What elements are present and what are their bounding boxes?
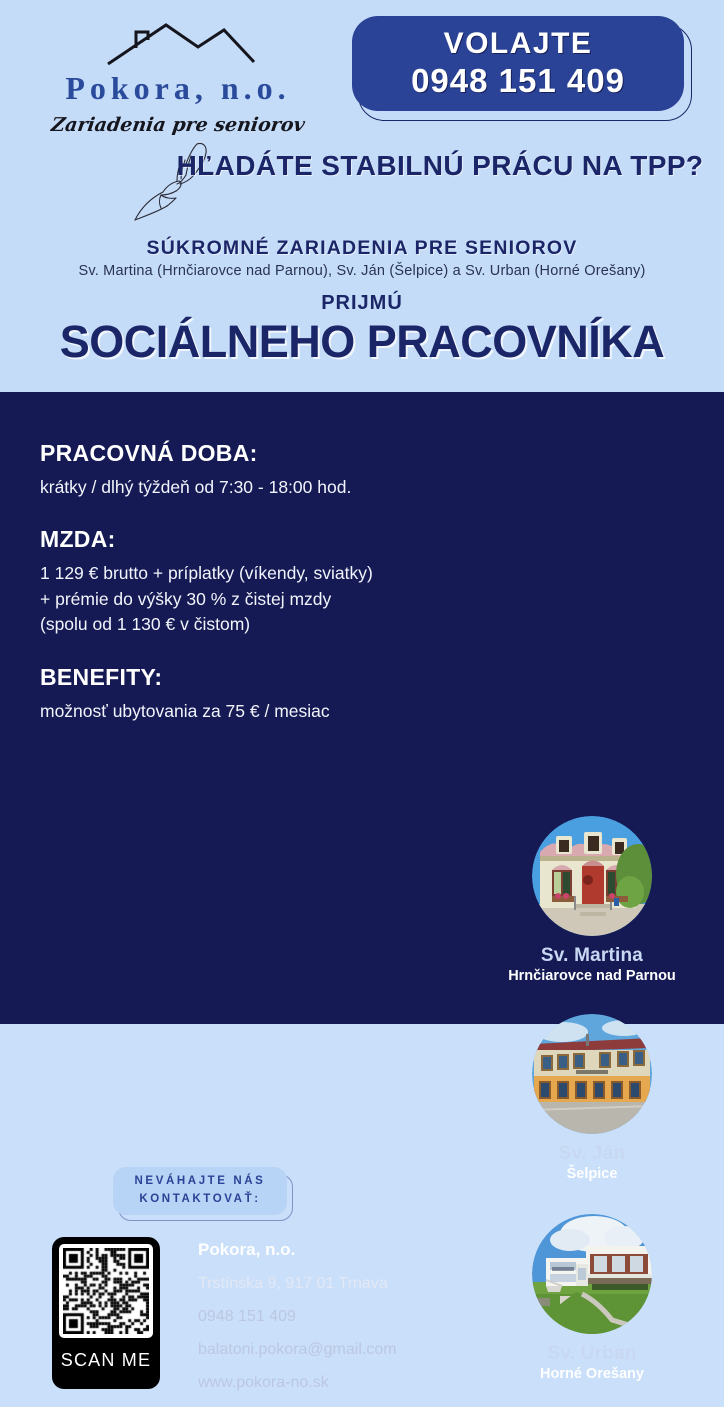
facility-card: Sv. MartinaHrnčiarovce nad Parnou bbox=[492, 816, 692, 984]
facility-photo bbox=[532, 1214, 652, 1334]
job-advert-poster: Pokora, n.o. Zariadenia pre seniorov bbox=[0, 0, 724, 1024]
facility-locations-line: Sv. Martina (Hrnčiarovce nad Parnou), Sv… bbox=[0, 263, 724, 279]
facility-card: Sv. JánŠelpice bbox=[492, 1014, 692, 1182]
detail-line: (spolu od 1 130 € v čistom) bbox=[40, 612, 490, 637]
detail-heading: MZDA: bbox=[40, 526, 490, 553]
qr-canvas bbox=[63, 1248, 149, 1334]
company-logo: Pokora, n.o. Zariadenia pre seniorov bbox=[18, 18, 338, 223]
scan-me-label: SCAN ME bbox=[59, 1338, 153, 1382]
call-box-fill[interactable]: VOLAJTE 0948 151 409 bbox=[352, 16, 684, 111]
facility-photo bbox=[532, 816, 652, 936]
prijmu-label: PRIJMÚ bbox=[0, 292, 724, 315]
detail-group: PRACOVNÁ DOBA:krátky / dlhý týždeň od 7:… bbox=[40, 440, 490, 500]
badge-fill: NEVÁHAJTE NÁS KONTAKTOVAŤ: bbox=[113, 1167, 287, 1215]
badge-line-2: KONTAKTOVAŤ: bbox=[139, 1191, 260, 1209]
logo-tagline: Zariadenia pre seniorov bbox=[16, 114, 339, 136]
contact-details: Pokora, n.o. Trstínska 9, 917 01 Trnava … bbox=[198, 1240, 458, 1407]
facility-photo bbox=[532, 1014, 652, 1134]
roof-icon bbox=[106, 20, 256, 68]
detail-group: BENEFITY:možnosť ubytovania za 75 € / me… bbox=[40, 664, 490, 724]
contact-phone[interactable]: 0948 151 409 bbox=[198, 1308, 458, 1326]
private-facilities-label: SÚKROMNÉ ZARIADENIA PRE SENIOROV bbox=[0, 237, 724, 260]
facility-name: Sv. Martina bbox=[492, 945, 692, 967]
contact-company-name: Pokora, n.o. bbox=[198, 1240, 458, 1260]
detail-group: MZDA:1 129 € brutto + príplatky (víkendy… bbox=[40, 526, 490, 637]
logo-company-name: Pokora, n.o. bbox=[18, 70, 338, 107]
contact-email[interactable]: balatoni.pokora@gmail.com bbox=[198, 1341, 458, 1359]
poster-body-section: PRACOVNÁ DOBA:krátky / dlhý týždeň od 7:… bbox=[0, 392, 724, 1024]
detail-line: možnosť ubytovania za 75 € / mesiac bbox=[40, 699, 490, 724]
job-details-list: PRACOVNÁ DOBA:krátky / dlhý týždeň od 7:… bbox=[40, 440, 490, 750]
poster-header-section: Pokora, n.o. Zariadenia pre seniorov bbox=[0, 0, 724, 392]
facility-card: Sv. UrbanHorné Orešany bbox=[492, 1214, 692, 1382]
contact-address: Trstínska 9, 917 01 Trnava bbox=[198, 1275, 458, 1293]
qr-code-image bbox=[59, 1244, 153, 1338]
page-title: SOCIÁLNEHO PRACOVNÍKA bbox=[0, 316, 724, 368]
contact-website[interactable]: www.pokora-no.sk bbox=[198, 1374, 458, 1392]
facility-name: Sv. Urban bbox=[492, 1343, 692, 1365]
call-us-box[interactable]: VOLAJTE 0948 151 409 bbox=[352, 16, 692, 121]
badge-line-1: NEVÁHAJTE NÁS bbox=[135, 1173, 266, 1191]
call-label: VOLAJTE bbox=[444, 27, 593, 61]
detail-heading: BENEFITY: bbox=[40, 664, 490, 691]
headline: HĽADÁTE STABILNÚ PRÁCU NA TPP? bbox=[170, 148, 710, 184]
call-phone-number: 0948 151 409 bbox=[411, 62, 625, 100]
qr-code[interactable]: SCAN ME bbox=[52, 1237, 160, 1389]
facility-location: Horné Orešany bbox=[492, 1366, 692, 1382]
detail-heading: PRACOVNÁ DOBA: bbox=[40, 440, 490, 467]
contact-us-badge: NEVÁHAJTE NÁS KONTAKTOVAŤ: bbox=[113, 1167, 293, 1221]
detail-line: 1 129 € brutto + príplatky (víkendy, svi… bbox=[40, 561, 490, 586]
detail-line: + prémie do výšky 30 % z čistej mzdy bbox=[40, 587, 490, 612]
facility-location: Hrnčiarovce nad Parnou bbox=[492, 968, 692, 984]
facility-location: Šelpice bbox=[492, 1166, 692, 1182]
detail-line: krátky / dlhý týždeň od 7:30 - 18:00 hod… bbox=[40, 475, 490, 500]
facility-name: Sv. Ján bbox=[492, 1143, 692, 1165]
